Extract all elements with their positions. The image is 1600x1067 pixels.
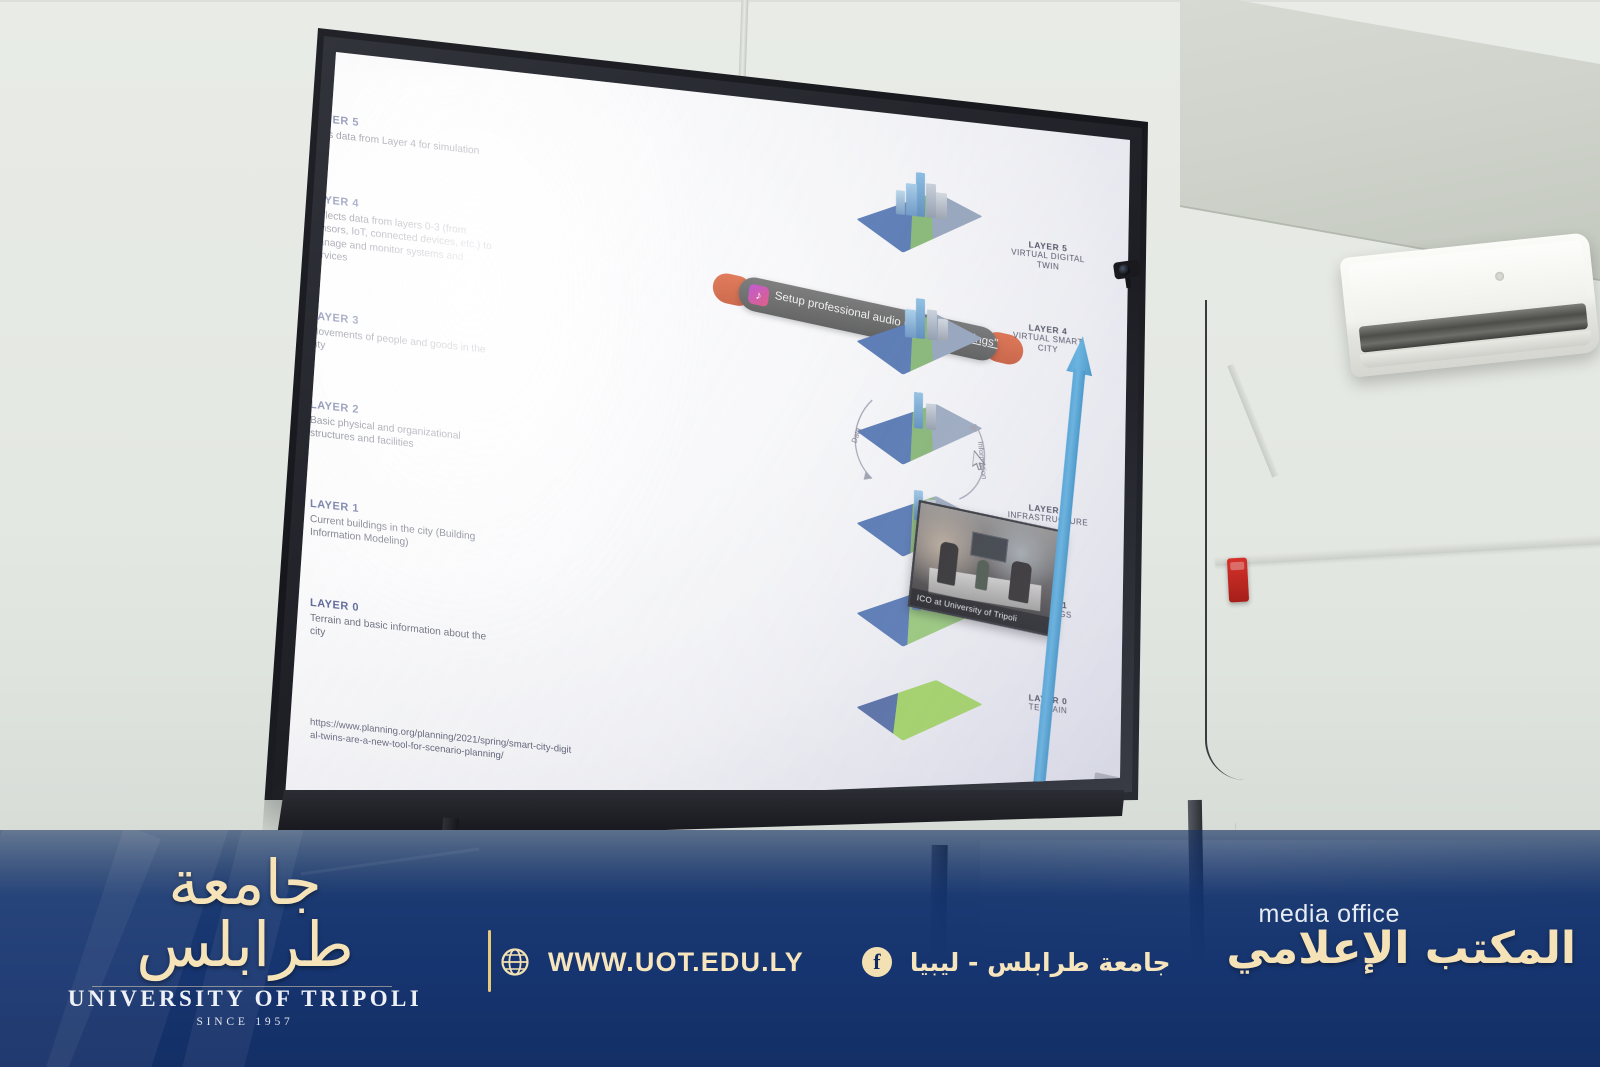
- logo-since-text: SINCE 1957: [60, 1016, 430, 1028]
- air-conditioner: [1339, 232, 1600, 377]
- logo-arabic-name: جامعة طرابلس: [60, 852, 430, 976]
- board-bottom-chin: [276, 790, 1124, 830]
- university-logo: جامعة طرابلس UNIVERSITY OF TRIPOLI SINCE…: [60, 852, 430, 1028]
- logo-divider: [92, 986, 392, 987]
- cable-run: [1205, 300, 1247, 780]
- facebook-icon[interactable]: f: [862, 947, 892, 977]
- board-camera: [1108, 253, 1146, 287]
- website-url[interactable]: WWW.UOT.EDU.LY: [548, 947, 804, 978]
- media-office-block: media office المكتب الإعلامي: [1226, 900, 1576, 974]
- smart-board: ♪ Setup professional audio in "Audio Set…: [258, 0, 1218, 880]
- facebook-page-name[interactable]: جامعة طرابلس - ليبيا: [910, 948, 1171, 977]
- screen-glare: [298, 70, 728, 690]
- media-office-arabic: المكتب الإعلامي: [1226, 923, 1576, 974]
- brand-bar-separator: [488, 930, 491, 992]
- wall-conduit: [1215, 535, 1600, 566]
- screenshot-root: ♪ Setup professional audio in "Audio Set…: [0, 0, 1600, 1067]
- globe-icon: [500, 947, 530, 977]
- logo-english-name: UNIVERSITY OF TRIPOLI: [60, 986, 430, 1012]
- brand-contact-bar: WWW.UOT.EDU.LY f جامعة طرابلس - ليبيا: [500, 938, 1171, 986]
